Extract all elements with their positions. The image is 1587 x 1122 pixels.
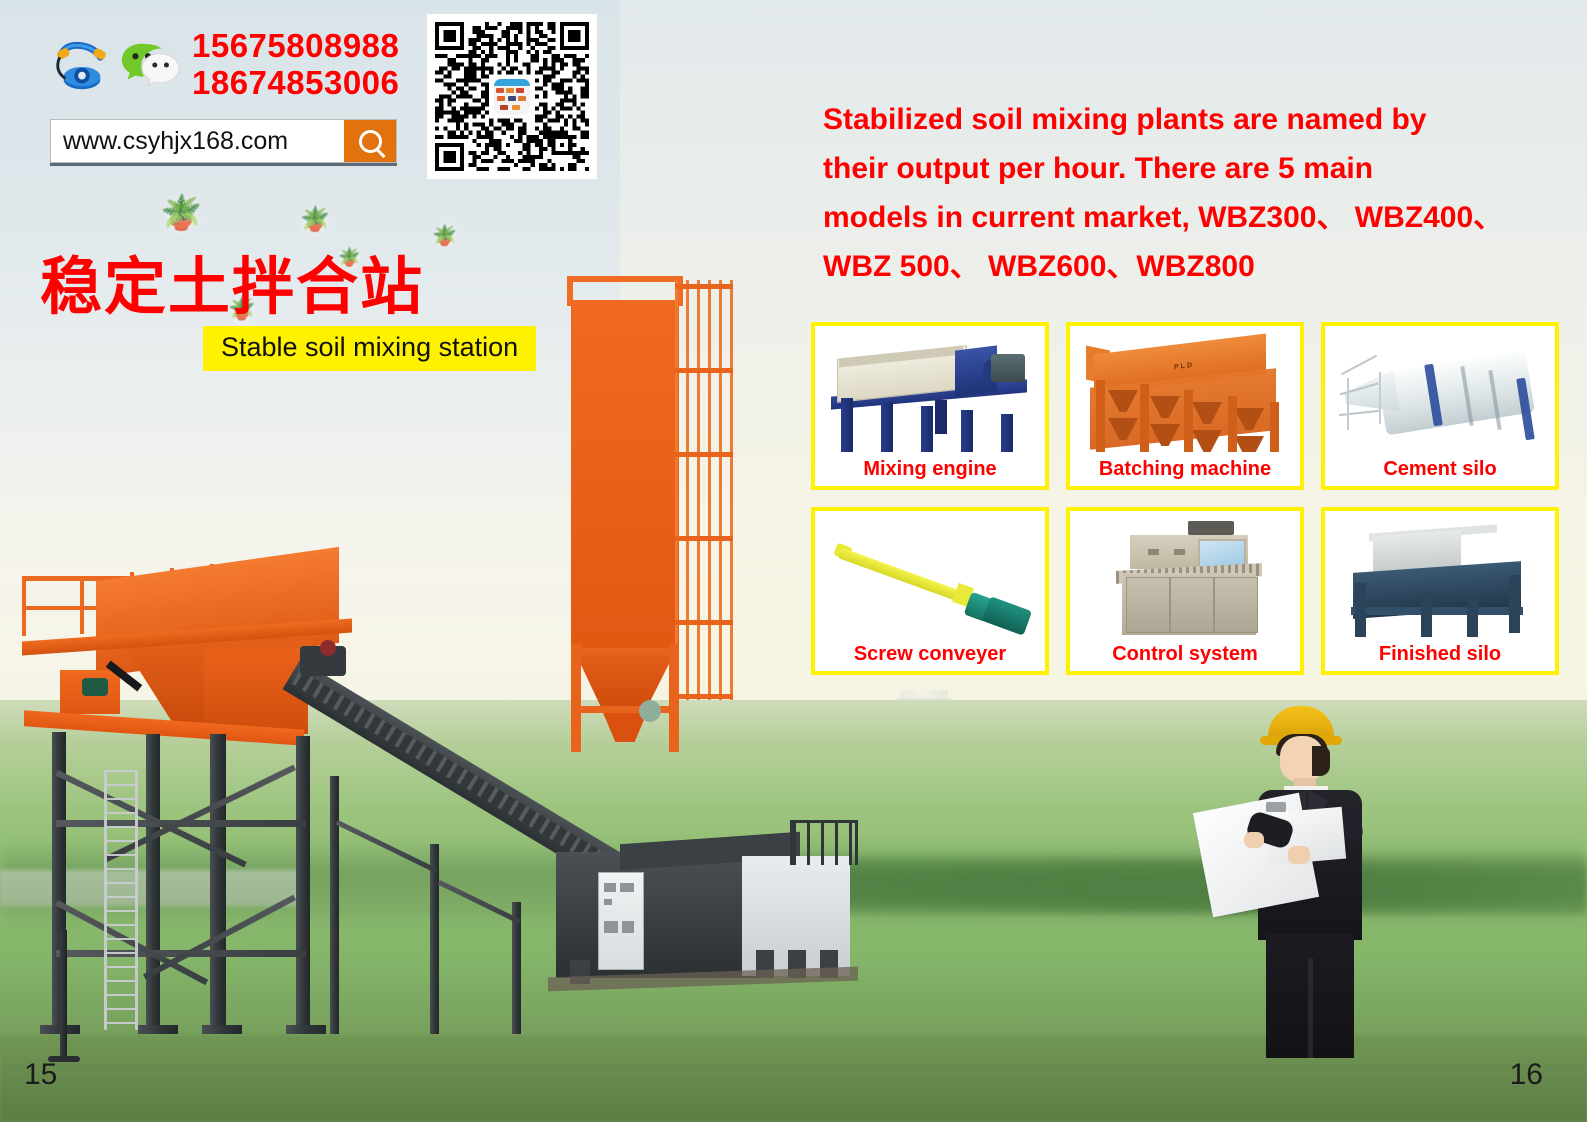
service-platform-railing — [790, 820, 858, 865]
cement-silo-icon — [1325, 326, 1555, 452]
platform-railing — [80, 576, 84, 634]
intro-line-1: Stabilized soil mixing plants are named … — [823, 103, 1427, 136]
intro-line-4: WBZ 500、 WBZ600、WBZ800 — [823, 250, 1255, 283]
telephone-icon — [50, 34, 112, 96]
tree-line-right — [760, 845, 1587, 915]
page-number-right: 16 — [1510, 1058, 1543, 1092]
cement-silo-tower — [565, 270, 695, 830]
access-ladder — [104, 770, 138, 1030]
twin-shaft-mixer-icon — [815, 326, 1045, 452]
hair-side — [1312, 746, 1330, 776]
silo-ladder-cage — [675, 280, 733, 700]
component-card-finished-silo[interactable]: Finished silo — [1321, 507, 1559, 675]
contact-block: 15675808988 18674853006 — [50, 28, 410, 102]
conveyor-brace — [336, 820, 437, 873]
intro-line-2: their output per hour. There are 5 main — [823, 152, 1373, 185]
tower-footing — [138, 1025, 178, 1034]
silo-discharge-cone — [573, 648, 677, 714]
stabilized-soil-mixing-plant-photo — [0, 520, 880, 1060]
dove-icon: 🪴 — [432, 226, 457, 246]
finished-product-silo-icon — [1325, 511, 1555, 637]
component-card-label: Mixing engine — [815, 452, 1045, 486]
intro-line-3: models in current market, WBZ300、 WBZ400… — [823, 201, 1503, 234]
discharge-valve — [639, 700, 661, 722]
hand-right — [1288, 846, 1310, 864]
brochure-page: 🪴 🪴 🪴 🪴 🪴 — [0, 0, 1587, 1122]
component-card-label: Cement silo — [1325, 452, 1555, 486]
conveyor-roller — [320, 640, 336, 656]
clipboard-clip — [1266, 802, 1286, 812]
tower-footing — [202, 1025, 242, 1034]
dove-icon: 🪴 — [160, 196, 202, 230]
tower-footing — [286, 1025, 326, 1034]
gearbox — [82, 678, 108, 696]
qr-code[interactable] — [427, 14, 597, 179]
search-icon — [359, 130, 382, 153]
wechat-icon — [118, 34, 180, 96]
silo-body — [571, 300, 679, 650]
phone-number-1: 15675808988 — [192, 28, 399, 65]
page-number-left: 15 — [24, 1058, 57, 1092]
page-title-chinese: 稳定土拌合站 — [40, 236, 424, 326]
component-card-mixing-engine[interactable]: Mixing engine — [811, 322, 1049, 490]
component-card-batching-machine[interactable]: PLD Batching machine — [1066, 322, 1304, 490]
component-card-label: Control system — [1070, 637, 1300, 671]
aggregate-batcher-icon: PLD — [1070, 326, 1300, 452]
dove-icon: 🪴 — [300, 208, 330, 232]
hand-left — [1244, 832, 1264, 848]
tower-leg — [296, 736, 310, 1032]
website-search-bar[interactable]: www.csyhjx168.com — [50, 119, 397, 163]
electrical-control-panel — [598, 872, 644, 970]
control-console-icon — [1070, 511, 1300, 637]
component-card-label: Finished silo — [1325, 637, 1555, 671]
phone-numbers: 15675808988 18674853006 — [192, 28, 399, 102]
website-url[interactable]: www.csyhjx168.com — [51, 120, 344, 162]
trouser-seam — [1308, 958, 1313, 1058]
intro-paragraph: Stabilized soil mixing plants are named … — [823, 95, 1553, 291]
conveyor-support-leg — [330, 776, 339, 1034]
component-card-control-system[interactable]: Control system — [1066, 507, 1304, 675]
conveyor-brace — [438, 880, 521, 924]
foreground-pole — [60, 930, 67, 1060]
engineer-figure — [1232, 706, 1382, 1058]
component-card-label: Batching machine — [1070, 452, 1300, 486]
tower-leg — [210, 734, 226, 1032]
page-title-english: Stable soil mixing station — [203, 326, 536, 371]
search-button[interactable] — [344, 120, 396, 162]
tower-leg — [146, 734, 160, 1034]
component-card-grid: Mixing engine PLD — [811, 322, 1556, 675]
component-card-cement-silo[interactable]: Cement silo — [1321, 322, 1559, 490]
qr-center-logo-icon — [494, 79, 530, 115]
phone-number-2: 18674853006 — [192, 65, 399, 102]
